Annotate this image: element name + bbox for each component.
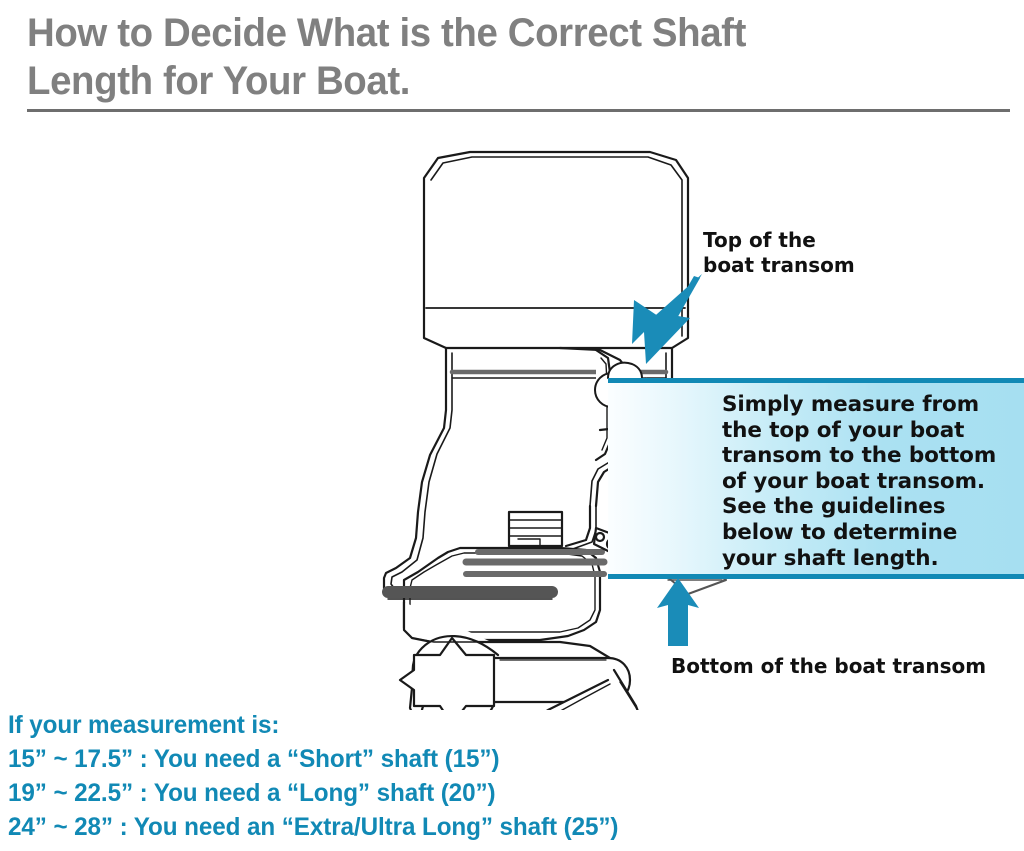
arrow-up-icon xyxy=(655,578,701,646)
callout-top-rule xyxy=(608,378,1024,383)
shaft-length-guidelines: If your measurement is: 15” ~ 17.5” : Yo… xyxy=(8,708,1018,844)
swivel-bracket xyxy=(566,506,590,546)
page-header: How to Decide What is the Correct Shaft … xyxy=(0,0,1024,115)
callout-text: Simply measure from the top of your boat… xyxy=(722,392,1022,571)
guideline-row-extra-long: 24” ~ 28” : You need an “Extra/Ultra Lon… xyxy=(8,810,988,844)
midsection-outer xyxy=(384,348,446,592)
page-title: How to Decide What is the Correct Shaft … xyxy=(27,9,963,105)
guideline-row-long: 19” ~ 22.5” : You need a “Long” shaft (2… xyxy=(8,776,988,810)
measurement-instruction-callout: Simply measure from the top of your boat… xyxy=(608,378,1024,579)
guidelines-intro: If your measurement is: xyxy=(8,708,988,742)
bolt-hole xyxy=(596,533,604,541)
midsection-outer-2 xyxy=(391,353,452,588)
guideline-row-short: 15” ~ 17.5” : You need a “Short” shaft (… xyxy=(8,742,988,776)
arrow-down-left-icon xyxy=(628,272,708,372)
label-bottom-of-boat-transom: Bottom of the boat transom xyxy=(671,654,1024,679)
mount-block xyxy=(509,512,562,546)
label-top-of-boat-transom: Top of the boat transom xyxy=(703,228,943,278)
